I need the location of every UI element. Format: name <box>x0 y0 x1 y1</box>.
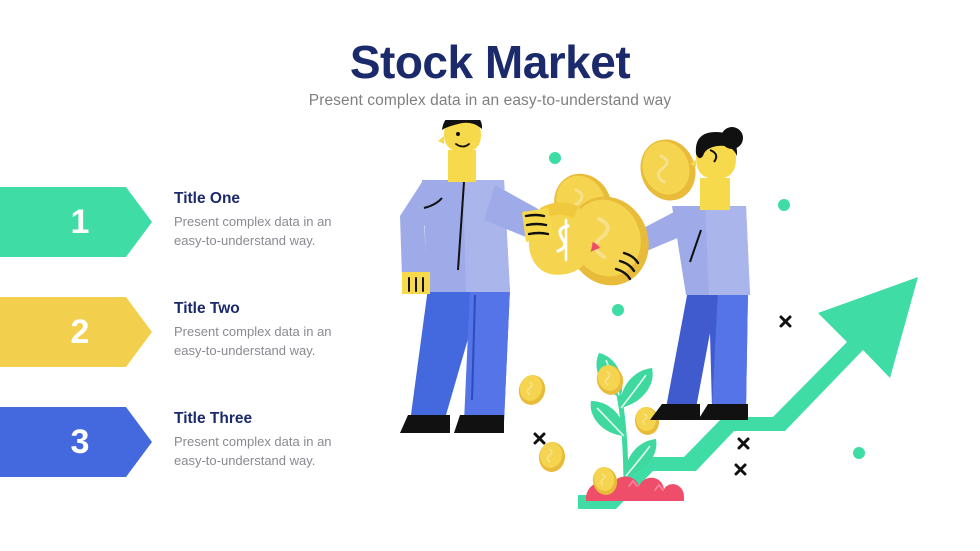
decorative-x-mark <box>781 317 790 326</box>
page-subtitle: Present complex data in an easy-to-under… <box>0 92 980 110</box>
chevron-badge-2[interactable]: 2 <box>0 297 152 367</box>
decorative-x-mark <box>736 465 745 474</box>
list-item-text: Title Three Present complex data in an e… <box>174 410 389 471</box>
list-item-title: Title One <box>174 190 389 208</box>
desc-line-2: easy-to-understand way. <box>174 453 315 468</box>
list-item[interactable]: 3 Title Three Present complex data in an… <box>0 396 420 506</box>
chevron-badge-1[interactable]: 1 <box>0 187 152 257</box>
list-item-description: Present complex data in an easy-to-under… <box>174 213 389 251</box>
list-item-text: Title One Present complex data in an eas… <box>174 190 389 251</box>
decorative-dot <box>549 152 561 164</box>
gold-coin-icon <box>537 440 567 473</box>
list-item-title: Title Two <box>174 300 389 318</box>
list-item-description: Present complex data in an easy-to-under… <box>174 433 389 471</box>
desc-line-2: easy-to-understand way. <box>174 233 315 248</box>
decorative-dot <box>778 199 790 211</box>
numbered-list: 1 Title One Present complex data in an e… <box>0 176 420 506</box>
list-item[interactable]: 2 Title Two Present complex data in an e… <box>0 286 420 396</box>
gold-coin-icon <box>515 372 548 408</box>
desc-line-1: Present complex data in an <box>174 214 332 229</box>
decorative-dot <box>853 447 865 459</box>
list-item-description: Present complex data in an easy-to-under… <box>174 323 389 361</box>
chevron-number: 1 <box>71 205 90 239</box>
list-item-title: Title Three <box>174 410 389 428</box>
chevron-number: 2 <box>71 315 90 349</box>
page-title: Stock Market <box>0 38 980 86</box>
chevron-badge-3[interactable]: 3 <box>0 407 152 477</box>
slide-root: Stock Market Present complex data in an … <box>0 0 980 551</box>
decorative-dot <box>612 304 624 316</box>
desc-line-1: Present complex data in an <box>174 324 332 339</box>
desc-line-2: easy-to-understand way. <box>174 343 315 358</box>
stock-market-illustration <box>400 120 980 540</box>
list-item[interactable]: 1 Title One Present complex data in an e… <box>0 176 420 286</box>
chevron-number: 3 <box>71 425 90 459</box>
gold-coin-icon <box>633 405 661 437</box>
header: Stock Market Present complex data in an … <box>0 38 980 110</box>
list-item-text: Title Two Present complex data in an eas… <box>174 300 389 361</box>
decorative-x-mark <box>535 434 544 443</box>
decorative-x-mark <box>739 439 748 448</box>
gold-coin-icon <box>632 132 704 209</box>
desc-line-1: Present complex data in an <box>174 434 332 449</box>
